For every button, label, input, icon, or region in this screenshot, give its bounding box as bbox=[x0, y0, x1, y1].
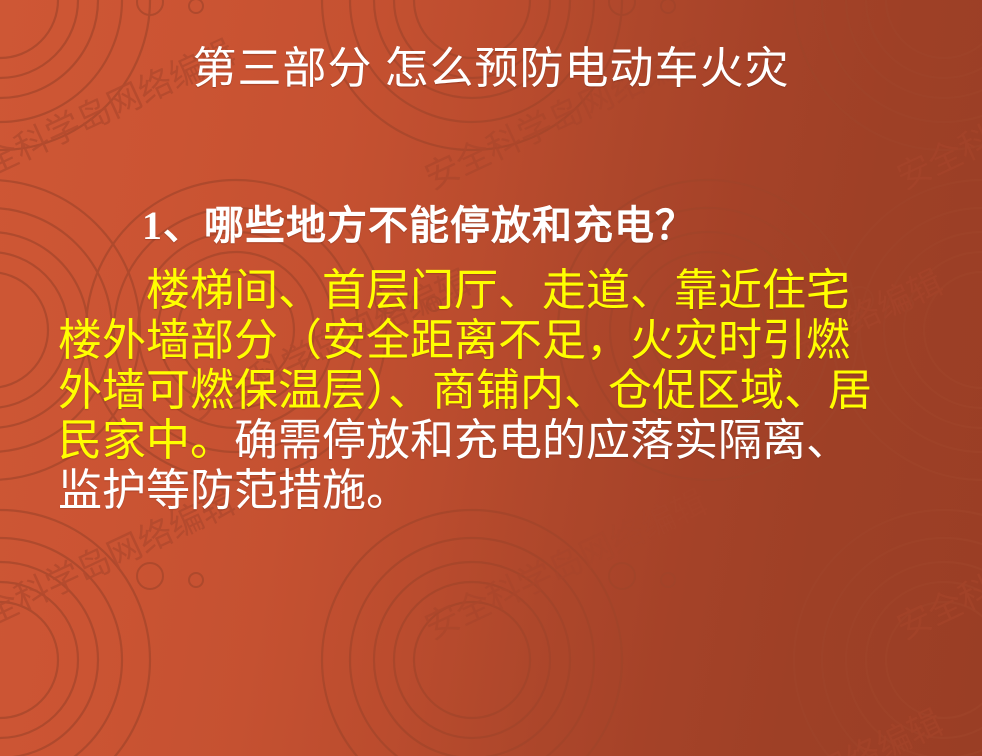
slide-title: 第三部分 怎么预防电动车火灾 bbox=[0, 40, 982, 98]
question-heading: 1、哪些地方不能停放和充电？ bbox=[142, 200, 696, 252]
slide-canvas: 安全科学岛网络编辑 安全科学岛网络编辑 安全科学岛网络编辑 安全科学岛网络编辑 … bbox=[0, 0, 982, 756]
body-paragraph: 楼梯间、首层门厅、走道、靠近住宅楼外墙部分（安全距离不足，火灾时引燃外墙可燃保温… bbox=[58, 266, 888, 516]
svg-text:安全科学岛网络编辑: 安全科学岛网络编辑 bbox=[891, 483, 982, 647]
svg-text:安全科学岛网络编辑: 安全科学岛网络编辑 bbox=[655, 703, 948, 756]
svg-text:安全科学岛网络编辑: 安全科学岛网络编辑 bbox=[0, 263, 1, 427]
